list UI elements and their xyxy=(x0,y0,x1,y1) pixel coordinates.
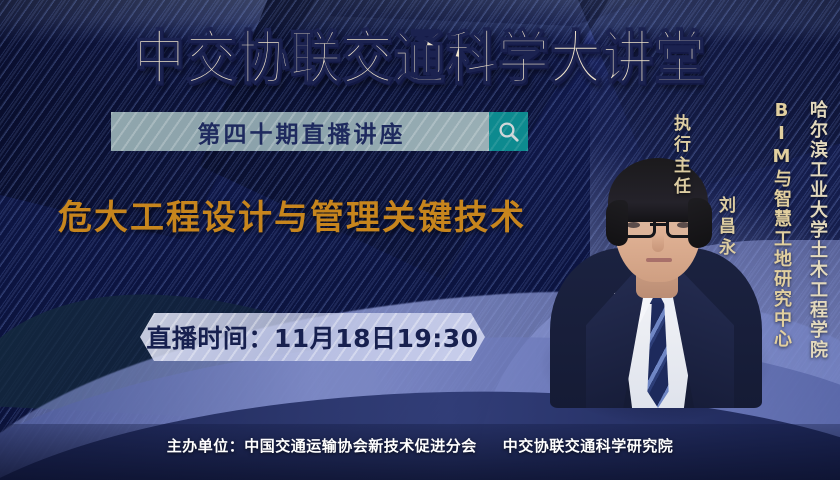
organizer-label: 主办单位： xyxy=(167,437,245,455)
live-time-text: 直播时间：11月18日19:30 xyxy=(146,319,478,355)
search-icon xyxy=(497,120,521,144)
speaker-role: 执行主任 xyxy=(668,114,693,259)
organizer-name-1: 中国交通运输协会新技术促进分会 xyxy=(244,437,477,455)
page-title: 中交协联交通科学大讲堂 xyxy=(0,12,840,96)
organizer-name-2: 中交协联交通科学研究院 xyxy=(503,437,674,455)
speaker-name: 刘昌永 xyxy=(715,196,735,259)
lecture-title: 危大工程设计与管理关键技术 xyxy=(58,190,526,239)
speaker-school: 哈尔滨工业大学土木工程学院 xyxy=(804,100,830,360)
live-lecture-poster: 中交协联交通科学大讲堂 第四十期直播讲座 危大工程设计与管理关键技术 直播时间：… xyxy=(0,0,840,480)
live-time-plate: 直播时间：11月18日19:30 xyxy=(140,313,485,361)
search-button[interactable] xyxy=(489,112,528,151)
footer-organizers: 主办单位：中国交通运输协会新技术促进分会中交协联交通科学研究院 xyxy=(0,435,840,456)
speaker-name-block: 刘昌永 执行主任 xyxy=(628,100,758,259)
session-label-bar: 第四十期直播讲座 xyxy=(111,112,489,151)
session-bar-row: 第四十期直播讲座 xyxy=(111,112,528,151)
portrait-hair-side-left xyxy=(606,200,628,246)
session-label: 第四十期直播讲座 xyxy=(198,115,406,149)
speaker-center: BIM与智慧工地研究中心 xyxy=(768,100,794,349)
